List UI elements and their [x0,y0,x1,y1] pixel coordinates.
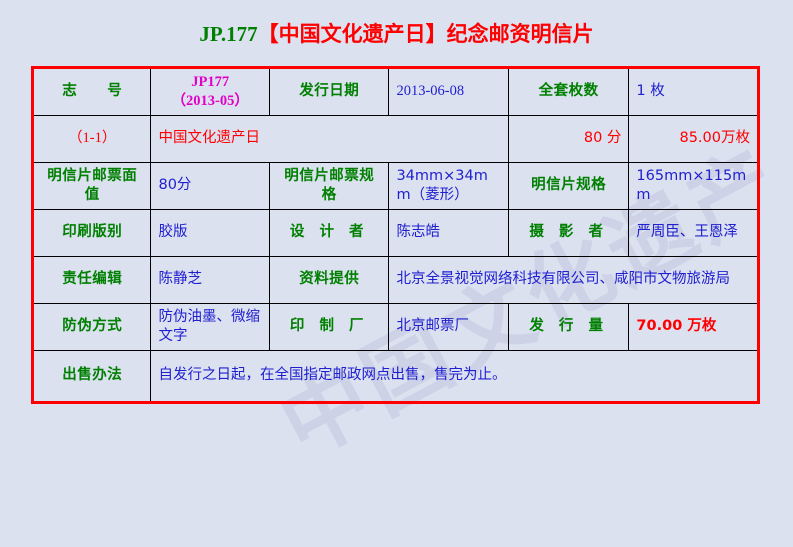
label-serial: 志 号 [33,68,151,116]
value-photographer: 严周臣、王恩泽 [629,210,759,257]
label-anticounterfeit: 防伪方式 [33,304,151,351]
label-designer: 设 计 者 [269,210,388,257]
value-item-denomination: 80 分 [508,116,628,163]
table-row: （1-1） 中国文化遗产日 80 分 85.00万枚 [33,116,759,163]
table-row: 明信片邮票面值 80分 明信片邮票规格 34mm×34mm（菱形） 明信片规格 … [33,163,759,210]
table-row: 志 号 JP177 （2013-05） 发行日期 2013-06-08 全套枚数… [33,68,759,116]
table-row: 出售办法 自发行之日起，在全国指定邮政网点出售，售完为止。 [33,351,759,403]
value-issue-date: 2013-06-08 [389,68,508,116]
table-row: 印刷版别 胶版 设 计 者 陈志皓 摄 影 者 严周臣、王恩泽 [33,210,759,257]
value-material-provider: 北京全景视觉网络科技有限公司、咸阳市文物旅游局 [389,257,759,304]
label-stamp-value: 明信片邮票面值 [33,163,151,210]
label-material-provider: 资料提供 [269,257,388,304]
title-code: JP.177 [199,22,257,46]
label-issue-date: 发行日期 [269,68,388,116]
value-stamp-size: 34mm×34mm（菱形） [389,163,508,210]
value-item-print-quantity: 85.00万枚 [629,116,759,163]
value-designer: 陈志皓 [389,210,508,257]
page-title: JP.177【中国文化遗产日】纪念邮资明信片 [0,18,793,48]
title-main: 【中国文化遗产日】纪念邮资明信片 [258,22,594,46]
value-stamp-value: 80分 [151,163,269,210]
value-editor: 陈静芝 [151,257,269,304]
value-item-index: （1-1） [33,116,151,163]
label-set-count: 全套枚数 [508,68,628,116]
serial-code-line2: （2013-05） [172,93,249,109]
page-root: JP.177【中国文化遗产日】纪念邮资明信片 志 号 JP177 （2013-0… [0,0,793,547]
value-printer: 北京邮票厂 [389,304,508,351]
serial-code-line1: JP177 [191,74,229,90]
label-card-size: 明信片规格 [508,163,628,210]
table-row: 责任编辑 陈静芝 资料提供 北京全景视觉网络科技有限公司、咸阳市文物旅游局 [33,257,759,304]
label-photographer: 摄 影 者 [508,210,628,257]
label-stamp-size: 明信片邮票规格 [269,163,388,210]
label-print-type: 印刷版别 [33,210,151,257]
value-serial-code: JP177 （2013-05） [151,68,269,116]
label-sales-method: 出售办法 [33,351,151,403]
stamp-info-table: 志 号 JP177 （2013-05） 发行日期 2013-06-08 全套枚数… [31,66,760,404]
table-row: 防伪方式 防伪油墨、微缩文字 印 制 厂 北京邮票厂 发 行 量 70.00 万… [33,304,759,351]
label-editor: 责任编辑 [33,257,151,304]
label-issue-volume: 发 行 量 [508,304,628,351]
value-set-count: 1 枚 [629,68,759,116]
value-print-type: 胶版 [151,210,269,257]
value-anticounterfeit: 防伪油墨、微缩文字 [151,304,269,351]
value-issue-volume: 70.00 万枚 [629,304,759,351]
value-card-size: 165mm×115mm [629,163,759,210]
label-printer: 印 制 厂 [269,304,388,351]
value-sales-method: 自发行之日起，在全国指定邮政网点出售，售完为止。 [151,351,759,403]
value-item-name: 中国文化遗产日 [151,116,508,163]
